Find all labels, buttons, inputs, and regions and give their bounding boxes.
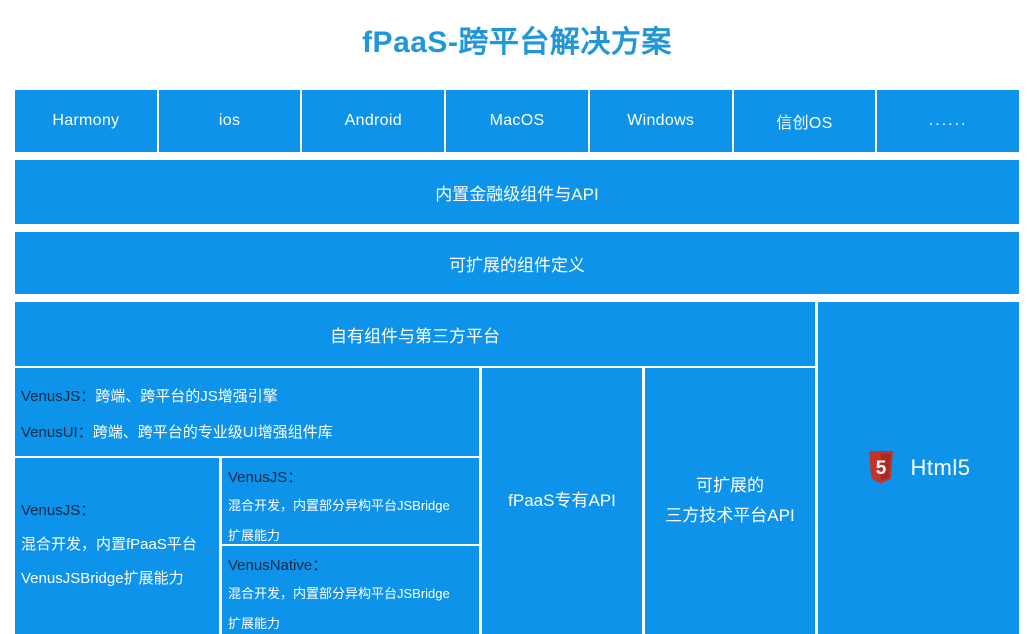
band-builtin-financial-components-api[interactable]: 内置金融级组件与API [15,160,1019,224]
html5-label: Html5 [911,455,971,481]
os-cell-windows[interactable]: Windows [590,90,732,152]
os-cell-android[interactable]: Android [302,90,444,152]
band-own-components-third-party[interactable]: 自有组件与第三方平台 [15,302,815,366]
venusjs-hetero-bridge-box[interactable]: VenusJS： 混合开发，内置部分异构平台JSBridge 扩展能力 [222,458,479,544]
third-party-tech-api-text: 可扩展的 三方技术平台API [665,471,794,531]
venusjs-key-label: VenusJS： [21,388,95,405]
third-party-api-line-1: 可扩展的 [665,471,794,501]
band-extensible-component-definition[interactable]: 可扩展的组件定义 [15,232,1019,294]
os-cell-harmony[interactable]: Harmony [15,90,157,152]
os-cell-more[interactable]: ...... [877,90,1019,152]
venusui-description: 跨端、跨平台的专业级UI增强组件库 [93,424,333,441]
venus-summary-line-1: VenusJS：跨端、跨平台的JS增强引擎 [21,379,473,415]
venusui-key-label: VenusUI： [21,424,93,441]
svg-text:5: 5 [875,458,886,479]
page-title: fPaaS-跨平台解决方案 [0,17,1034,61]
venusjs-hetero-line-1: 混合开发，内置部分异构平台JSBridge [228,491,473,521]
os-cell-ios[interactable]: ios [159,90,301,152]
venusjs-fpaas-line-2: VenusJSBridge扩展能力 [21,562,213,596]
third-party-tech-api-column[interactable]: 可扩展的 三方技术平台API [645,368,815,634]
venusjs-fpaas-title: VenusJS： [21,494,213,528]
venusnative-hetero-line-2: 扩展能力 [228,609,473,634]
html5-panel[interactable]: 5 Html5 [818,302,1019,634]
venus-summary-box[interactable]: VenusJS：跨端、跨平台的JS增强引擎 VenusUI：跨端、跨平台的专业级… [15,368,479,456]
venusjs-fpaas-bridge-box[interactable]: VenusJS： 混合开发，内置fPaaS平台 VenusJSBridge扩展能… [15,458,219,634]
os-cell-xinchuang-os[interactable]: 信创OS [734,90,876,152]
venusnative-hetero-bridge-box[interactable]: VenusNative： 混合开发，内置部分异构平台JSBridge 扩展能力 [222,546,479,634]
venusnative-hetero-title: VenusNative： [228,553,473,579]
lower-grid: 自有组件与第三方平台 VenusJS：跨端、跨平台的JS增强引擎 VenusUI… [15,302,1019,634]
os-cell-macos[interactable]: MacOS [446,90,588,152]
fpaas-proprietary-api-column[interactable]: fPaaS专有API [482,368,642,634]
venus-summary-line-2: VenusUI：跨端、跨平台的专业级UI增强组件库 [21,415,473,451]
venusjs-fpaas-line-1: 混合开发，内置fPaaS平台 [21,528,213,562]
os-platform-row: Harmony ios Android MacOS Windows 信创OS .… [15,90,1019,152]
left-group: 自有组件与第三方平台 VenusJS：跨端、跨平台的JS增强引擎 VenusUI… [15,302,815,634]
html5-shield-icon: 5 [867,451,895,485]
fpaas-proprietary-api-label: fPaaS专有API [508,486,616,516]
venusjs-description: 跨端、跨平台的JS增强引擎 [95,388,278,405]
third-party-api-line-2: 三方技术平台API [665,501,794,531]
mid-stack: VenusJS： 混合开发，内置部分异构平台JSBridge 扩展能力 Venu… [222,458,479,634]
venusjs-hetero-title: VenusJS： [228,465,473,491]
venusnative-hetero-line-1: 混合开发，内置部分异构平台JSBridge [228,579,473,609]
diagram-root: fPaaS-跨平台解决方案 Harmony ios Android MacOS … [0,0,1034,634]
